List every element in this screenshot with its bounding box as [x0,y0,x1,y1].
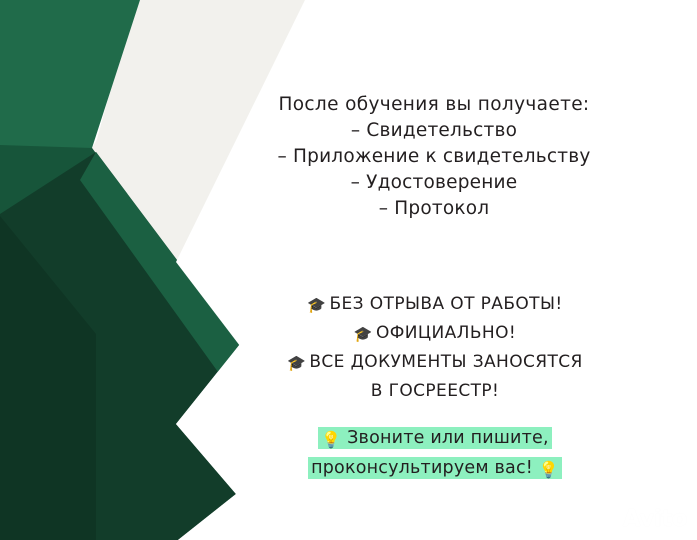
document-item-certificate-appendix: – Приложение к свидетельству [228,144,640,170]
poster-image: После обучения вы получаете: – Свидетель… [0,0,697,540]
benefit-label-registry-line2: В ГОСРЕЕСТР! [220,377,650,405]
document-item-id-card: – Удостоверение [228,170,640,196]
cta-text-line-2: проконсультируем вас! [311,458,533,478]
document-item-certificate: – Свидетельство [228,118,640,144]
benefit-row-official: 🎓ОФИЦИАЛЬНО! [220,319,650,348]
avito-wordmark: Avito [623,506,687,532]
cta-line-2: проконсультируем вас! 💡 [308,457,562,479]
documents-list-heading: После обучения вы получаете: [228,92,640,118]
avito-watermark: Avito [593,506,687,532]
graduation-cap-icon: 🎓 [307,291,326,319]
graduation-cap-icon: 🎓 [287,349,306,377]
benefit-label-registry-line1: ВСЕ ДОКУМЕНТЫ ЗАНОСЯТСЯ [309,352,582,372]
benefits-list: 🎓БЕЗ ОТРЫВА ОТ РАБОТЫ! 🎓ОФИЦИАЛЬНО! 🎓ВСЕ… [220,290,650,405]
benefit-label-official: ОФИЦИАЛЬНО! [376,323,516,343]
benefit-row-registry: 🎓ВСЕ ДОКУМЕНТЫ ЗАНОСЯТСЯ [220,348,650,377]
light-bulb-icon: 💡 [539,455,559,484]
documents-list: После обучения вы получаете: – Свидетель… [228,92,640,222]
cta-line-1: 💡 Звоните или пишите, [318,427,552,449]
benefit-label-no-work-interruption: БЕЗ ОТРЫВА ОТ РАБОТЫ! [329,294,562,314]
light-bulb-icon: 💡 [321,425,341,454]
graduation-cap-icon: 🎓 [354,320,373,348]
document-item-protocol: – Протокол [228,196,640,222]
poster-content: После обучения вы получаете: – Свидетель… [0,0,697,540]
avito-dots-logo-icon [593,508,619,530]
benefit-row-no-work-interruption: 🎓БЕЗ ОТРЫВА ОТ РАБОТЫ! [220,290,650,319]
cta-text-line-1: Звоните или пишите, [347,428,549,448]
call-to-action: 💡 Звоните или пишите, проконсультируем в… [215,424,655,484]
